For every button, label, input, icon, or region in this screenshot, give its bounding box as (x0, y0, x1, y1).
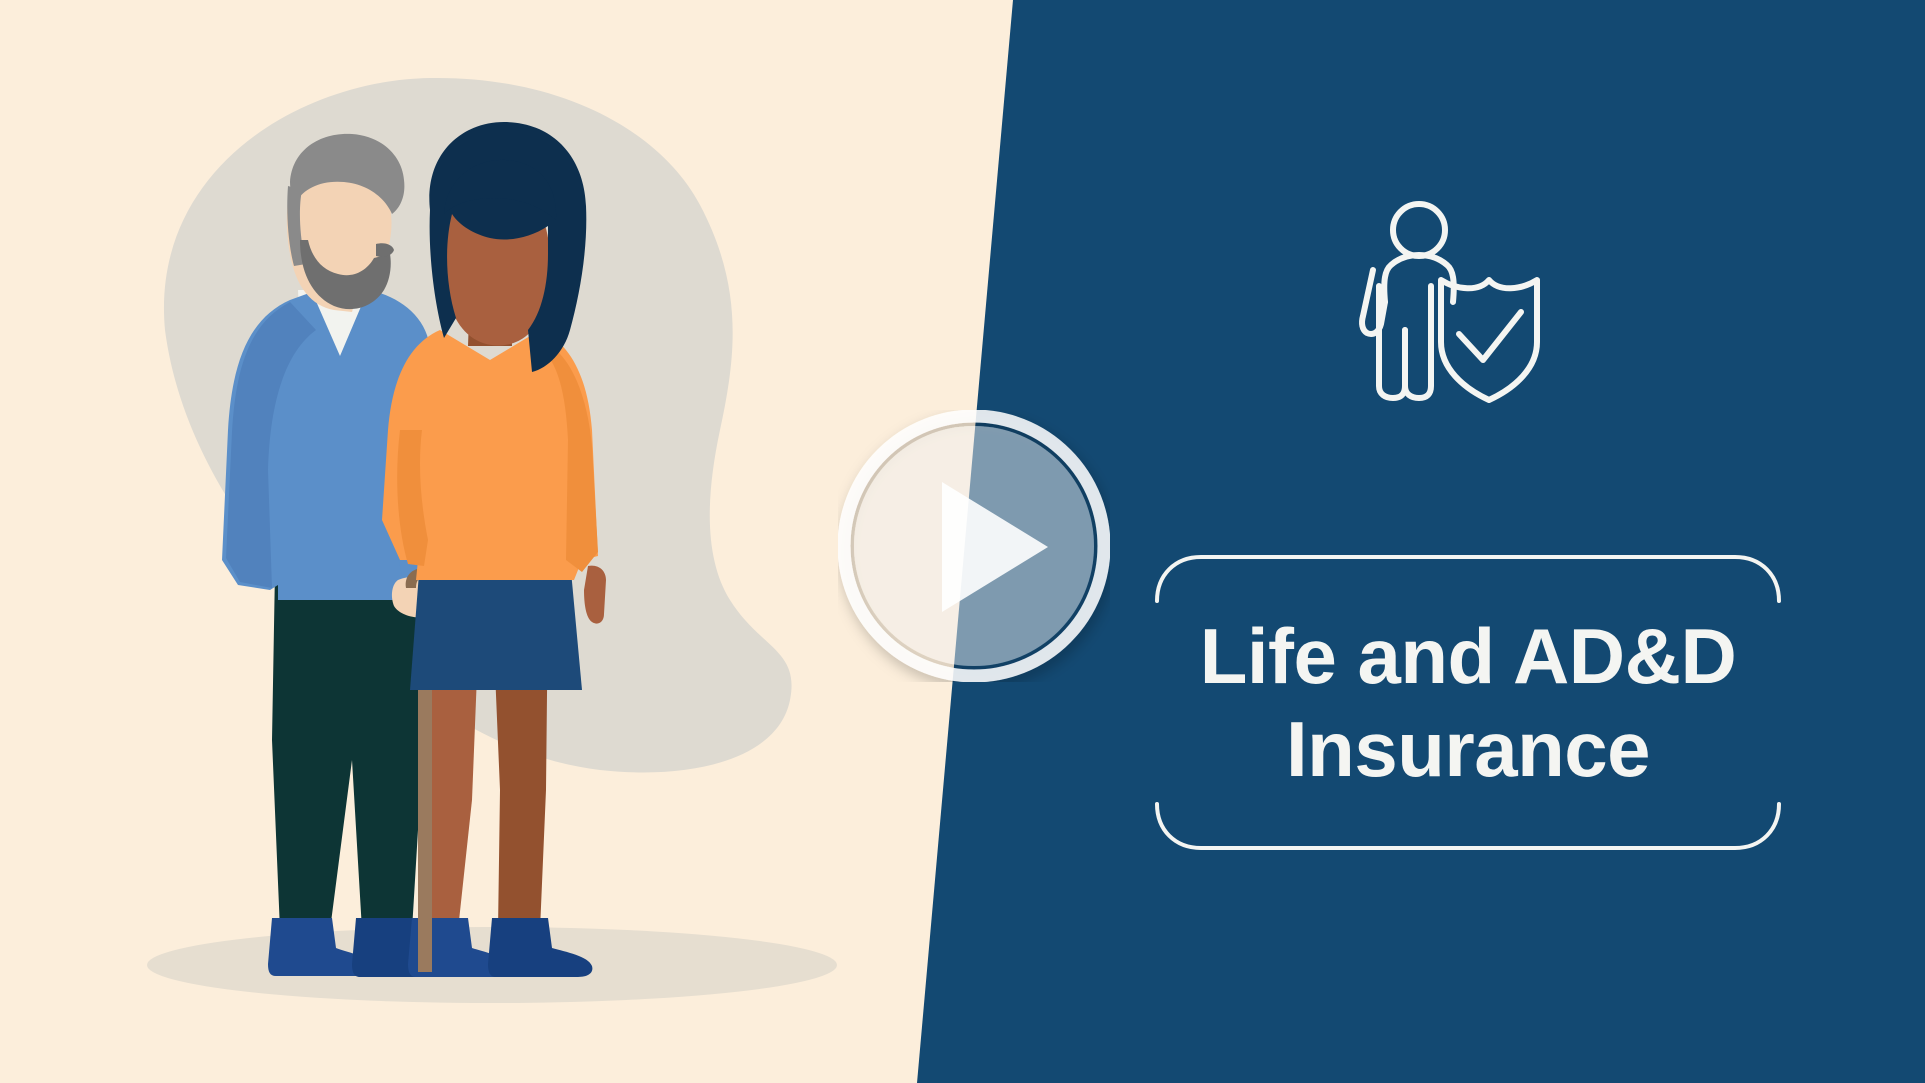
woman-hand (584, 566, 606, 624)
man-trousers (272, 570, 425, 930)
play-button[interactable] (838, 410, 1110, 682)
person-head-icon (1393, 204, 1445, 256)
page-title: Life and AD&D Insurance (1153, 545, 1783, 860)
video-thumbnail-slide: Life and AD&D Insurance (0, 0, 1925, 1083)
right-panel-content: Life and AD&D Insurance (1013, 0, 1925, 1083)
person-leg-right-icon (1405, 286, 1431, 398)
title-bracket-frame: Life and AD&D Insurance (1153, 545, 1783, 860)
check-mark-icon (1459, 312, 1521, 360)
person-shield-check-icon (1343, 190, 1573, 420)
